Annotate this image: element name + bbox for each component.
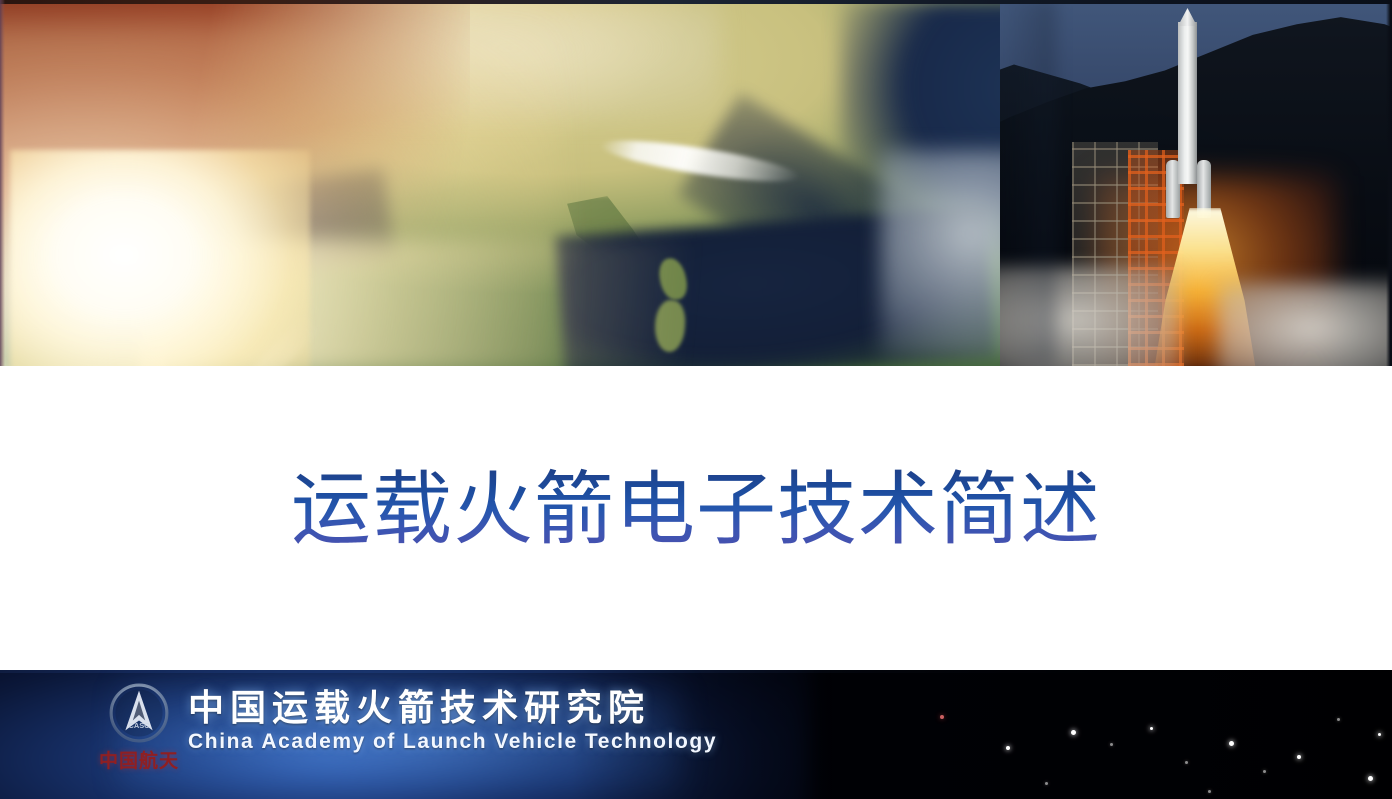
rocket-launch-photo [1000,0,1392,366]
org-en-word: Technology [585,730,717,753]
star-dot [1045,782,1048,785]
star-dot [1110,743,1113,746]
photo-seam-shadow [1000,0,1056,366]
org-en-word: Academy [261,730,366,753]
org-en-word: Vehicle [494,730,578,753]
launch-vehicle-body [1178,22,1197,184]
casc-logo-text: CASC [128,721,150,730]
star-dot [1071,730,1076,735]
star-dot [1150,727,1153,730]
casc-logo-icon: CASC [108,682,170,744]
slide-title: 运载火箭电子技术简述 [291,466,1101,554]
star-dot [1337,718,1340,721]
org-en-word: Launch [403,730,487,753]
star-dot [1208,790,1211,793]
banner-top-edge [0,0,1392,4]
organization-branding: CASC 中国航天 中国运载火箭技术研究院 ChinaAcademyofLaun… [96,682,724,773]
star-dot [1185,761,1188,764]
star-dot [1297,755,1301,759]
organization-name-en: ChinaAcademyofLaunchVehicleTechnology [188,730,724,754]
star-dot [940,715,944,719]
star-dot [1006,746,1010,750]
star-dot [1229,741,1234,746]
org-en-word: of [373,730,396,753]
star-dot [1263,770,1266,773]
banner-right-edge [1386,0,1392,366]
logo-caption: 中国航天 [99,746,179,773]
banner-image [0,0,1392,366]
org-en-word: China [188,730,254,753]
title-area: 运载火箭电子技术简述 [0,366,1392,670]
presentation-slide: 运载火箭电子技术简述 [0,0,1392,799]
smoke-cloud-right [1218,282,1392,366]
banner-left-edge [0,0,5,366]
sun-flare-core [10,150,310,366]
organization-name-cn: 中国运载火箭技术研究院 [188,688,724,728]
star-dot [1378,733,1381,736]
logo-column: CASC 中国航天 [96,682,182,773]
organization-name-block: 中国运载火箭技术研究院 ChinaAcademyofLaunchVehicleT… [188,682,724,754]
star-dot [1368,776,1373,781]
